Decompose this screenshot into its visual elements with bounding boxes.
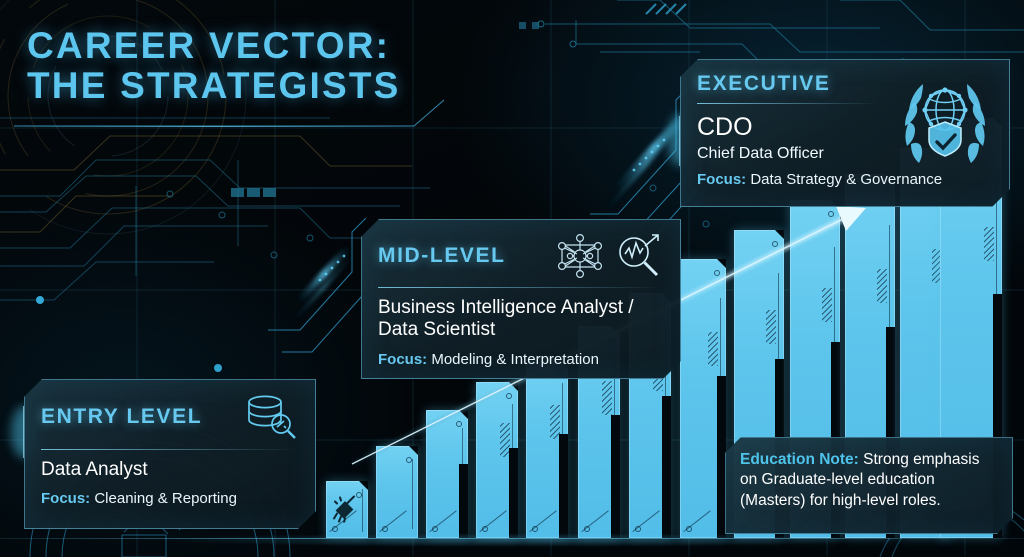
entry-focus-label: Focus: xyxy=(41,490,90,507)
broom-icon xyxy=(332,492,362,527)
bar-diagonal xyxy=(632,510,659,532)
bar-step-cut xyxy=(459,464,468,538)
bar-diagonal xyxy=(581,510,608,532)
database-search-icon xyxy=(241,392,299,442)
bar-node-top xyxy=(406,457,412,463)
bar-node-top xyxy=(772,241,778,247)
entry-level-label: ENTRY LEVEL xyxy=(41,405,202,429)
bar-corner-notch xyxy=(459,410,468,419)
entry-role: Data Analyst xyxy=(41,459,299,481)
infographic-canvas: CAREER VECTOR: THE STRATEGISTS ENTRY LEV… xyxy=(0,0,1024,557)
entry-focus: Focus: Cleaning & Reporting xyxy=(41,490,299,508)
bar-hatch xyxy=(822,288,832,322)
card-entry-level[interactable]: ENTRY LEVEL Data Analyst Focus: Cleaning… xyxy=(24,379,316,529)
bar-node-top xyxy=(456,421,462,427)
bar-diagonal xyxy=(479,510,506,532)
chart-magnifier-icon xyxy=(612,232,664,280)
bar-1 xyxy=(326,481,368,538)
mid-focus-label: Focus: xyxy=(378,351,427,368)
exec-focus-label: Focus: xyxy=(697,171,746,188)
bar-hatch xyxy=(877,269,887,303)
mid-card-header: MID-LEVEL xyxy=(378,232,664,280)
mid-role: Business Intelligence Analyst / Data Sci… xyxy=(378,297,664,342)
bar-corner-notch xyxy=(409,446,418,455)
bar-hatch xyxy=(602,381,612,415)
bar-5 xyxy=(526,358,568,538)
bar-hatch xyxy=(708,332,718,366)
entry-card-header: ENTRY LEVEL xyxy=(41,392,299,442)
education-note-label: Education Note: xyxy=(740,451,859,468)
exec-card-rule xyxy=(697,103,877,104)
bar-step-cut xyxy=(662,396,671,538)
bar-hatch xyxy=(766,310,776,344)
bar-trace xyxy=(412,459,413,529)
bar-step-cut xyxy=(611,415,620,538)
bar-node-top xyxy=(828,211,834,217)
bar-hatch xyxy=(984,227,994,261)
bar-node-top xyxy=(506,393,512,399)
mid-level-label: MID-LEVEL xyxy=(378,244,506,268)
bar-corner-notch xyxy=(717,259,726,268)
bar-diagonal xyxy=(379,510,406,532)
mid-focus: Focus: Modeling & Interpretation xyxy=(378,351,664,369)
education-note: Education Note: Strong emphasis on Gradu… xyxy=(725,437,1013,534)
title-underline xyxy=(14,126,414,127)
card-mid-level[interactable]: MID-LEVEL xyxy=(361,219,681,379)
page-title: CAREER VECTOR: THE STRATEGISTS xyxy=(27,26,401,107)
mid-focus-value: Modeling & Interpretation xyxy=(427,351,599,368)
bar-node-top xyxy=(714,270,720,276)
bar-diagonal xyxy=(683,510,710,532)
bar-diagonal xyxy=(429,510,456,532)
bar-step-cut xyxy=(509,448,518,538)
exec-focus: Focus: Data Strategy & Governance xyxy=(697,171,993,189)
executive-level-label: EXECUTIVE xyxy=(697,72,830,96)
bar-step-cut xyxy=(559,434,568,538)
bar-3 xyxy=(426,410,468,538)
bar-trace xyxy=(362,489,363,532)
bar-corner-notch xyxy=(509,382,518,391)
bar-corner-notch xyxy=(775,230,784,239)
laurel-globe-shield-icon xyxy=(893,68,997,172)
bar-corner-notch xyxy=(359,481,368,490)
bar-diagonal xyxy=(529,510,556,532)
baseline-glow xyxy=(150,533,890,547)
mid-card-icons xyxy=(552,232,664,280)
entry-focus-value: Cleaning & Reporting xyxy=(90,490,237,507)
bar-4 xyxy=(476,382,518,538)
neural-network-icon xyxy=(552,232,608,280)
entry-card-rule xyxy=(41,449,299,450)
card-executive[interactable]: EXECUTIVE CDO Chief Data Officer Focus: … xyxy=(680,59,1010,207)
bar-step-cut xyxy=(717,376,726,538)
bar-2 xyxy=(376,446,418,538)
exec-focus-value: Data Strategy & Governance xyxy=(746,171,942,188)
bar-8 xyxy=(680,259,726,538)
mid-card-rule xyxy=(378,287,664,288)
